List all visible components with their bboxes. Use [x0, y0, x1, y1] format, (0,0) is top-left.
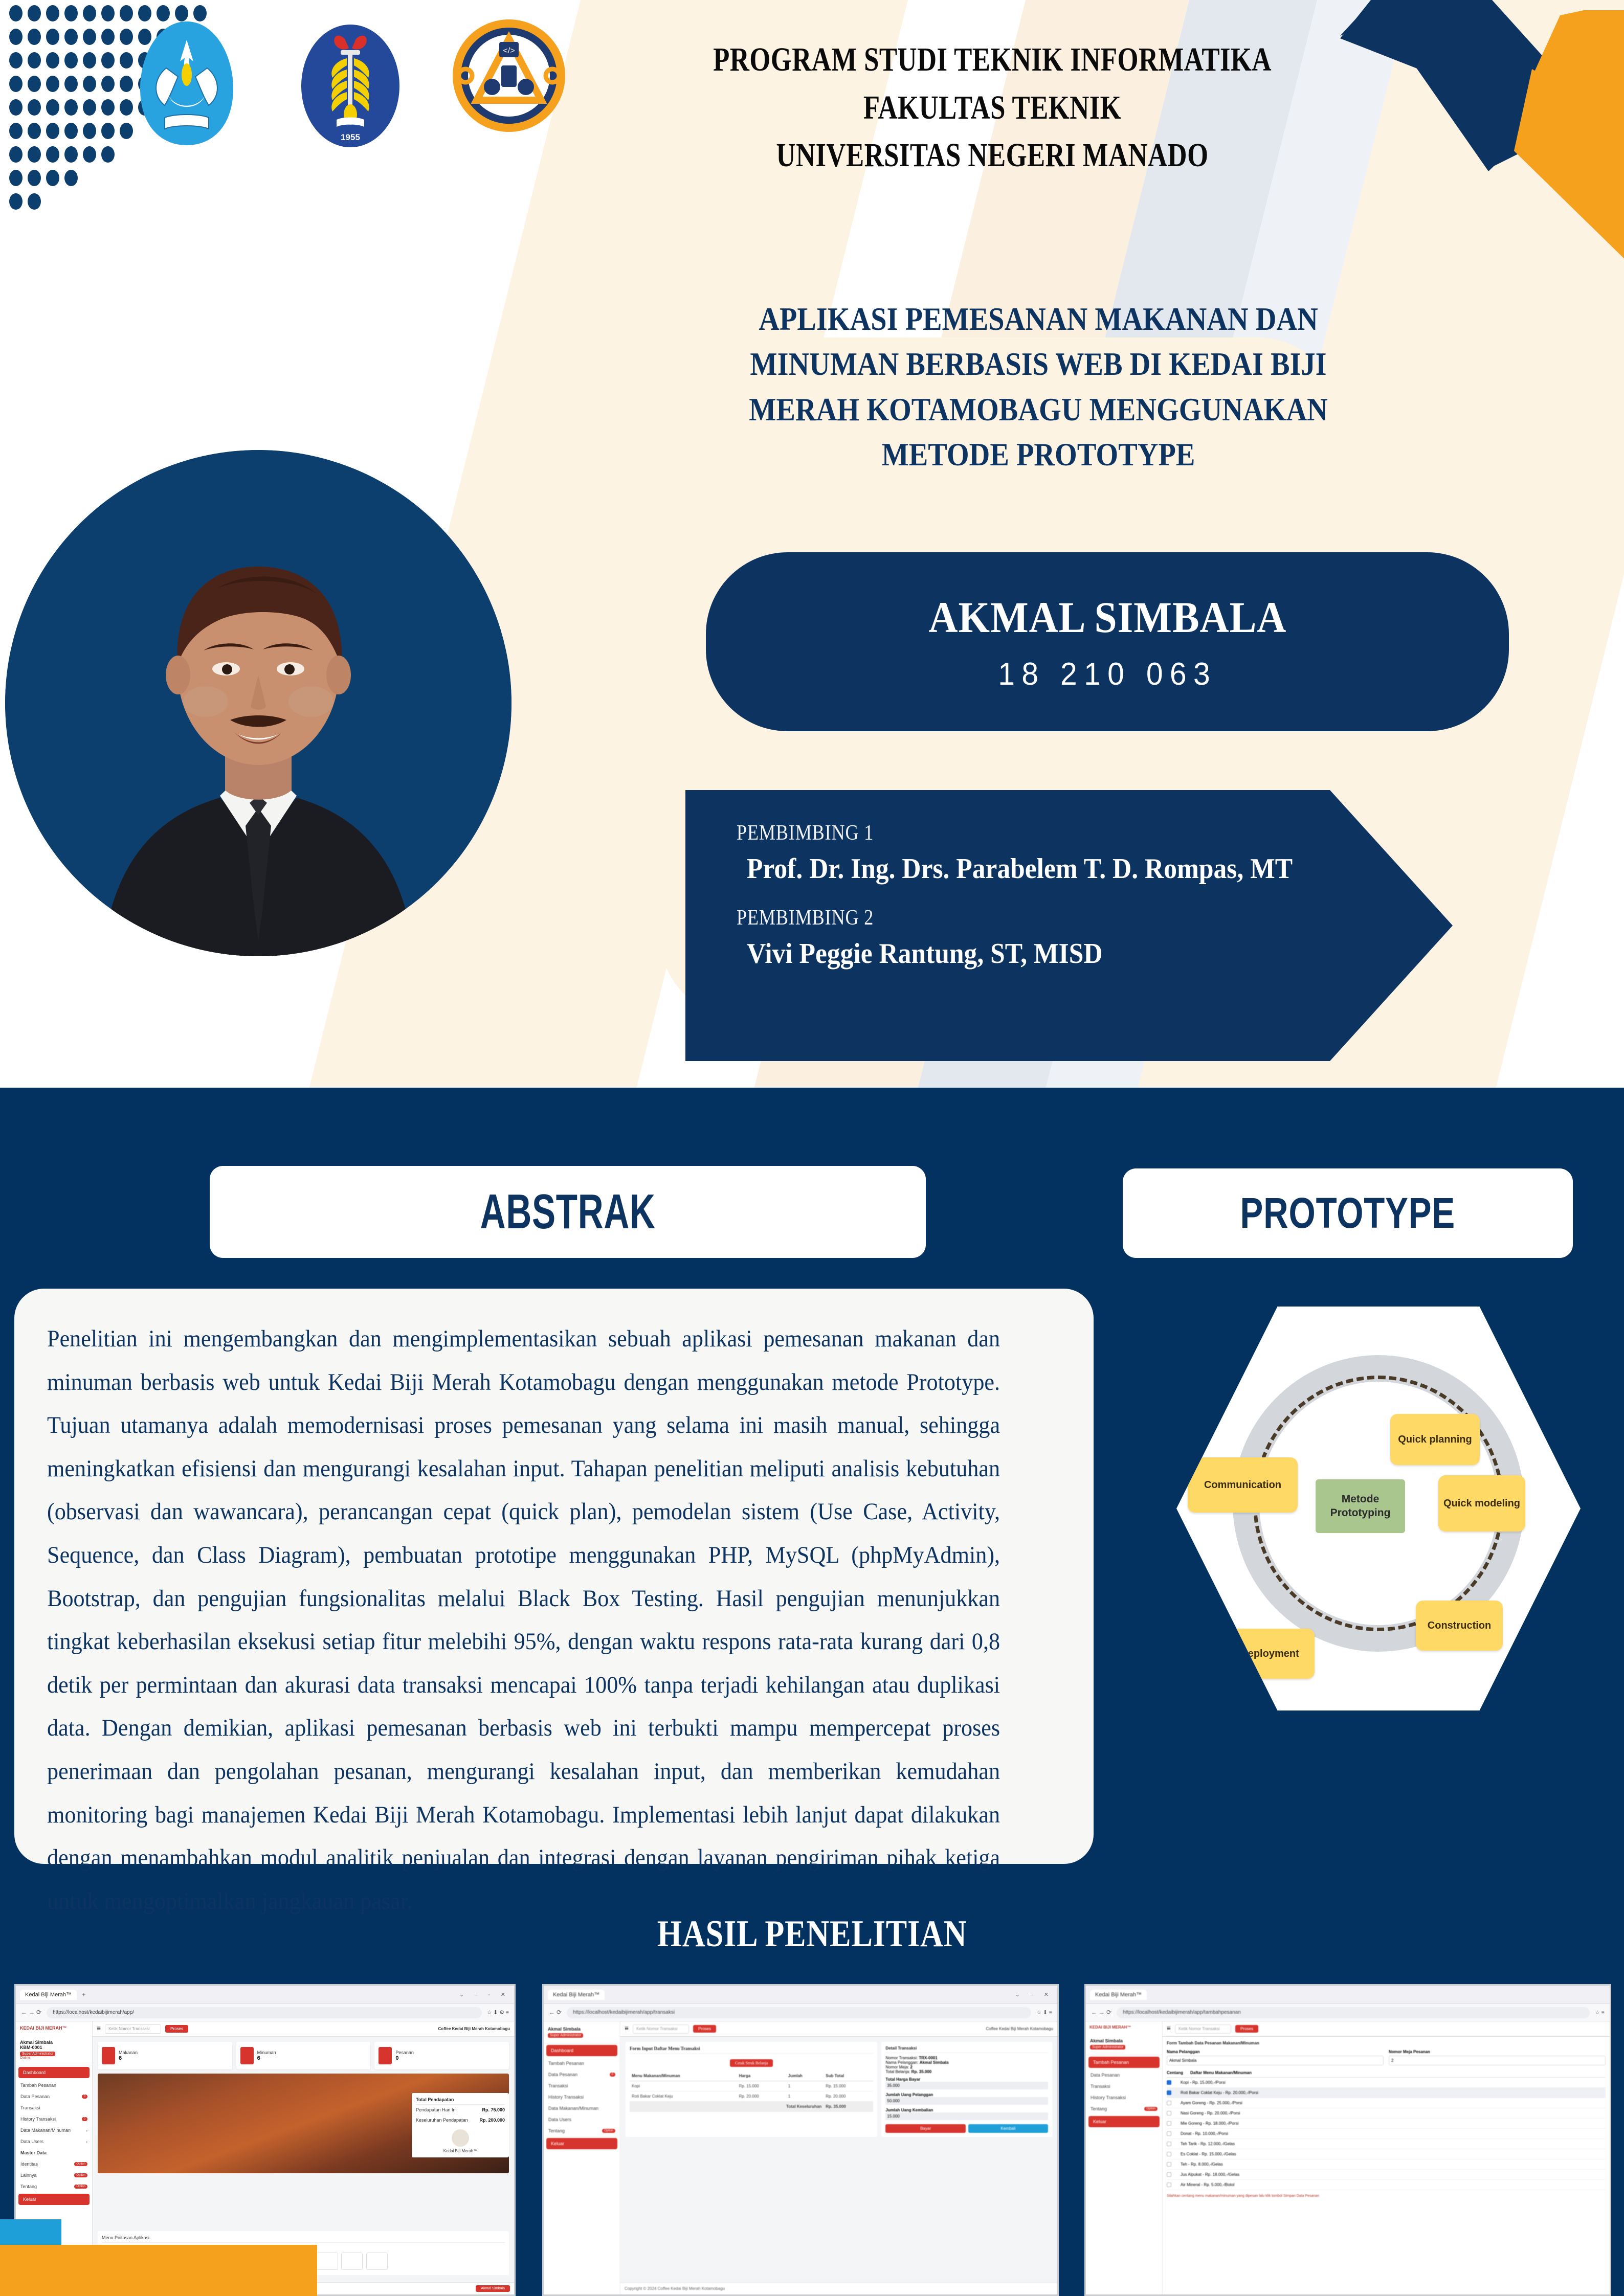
sidebar-user-name-2: Akmal Simbala [548, 2027, 616, 2032]
app-topnav-2: ☰ Ketik Nomor Transaksi Proses Coffee Ke… [620, 2021, 1057, 2037]
poster-title: APLIKASI PEMESANAN MAKANAN DAN MINUMAN B… [710, 297, 1367, 477]
list-item-label: Kopi - Rp. 15.000,-/Porsi [1181, 2080, 1226, 2085]
checkbox-icon[interactable] [1167, 2162, 1171, 2167]
sidebar-label-keluar-2: Keluar [551, 2141, 564, 2146]
prototype-stage-quick-planning: Quick planning [1390, 1414, 1480, 1465]
sidebar-badge-data-pesanan: 0 [82, 2095, 87, 2099]
td-total-value: Rp. 35.000 [824, 2102, 873, 2112]
sidebar-badge-identitas: Option [74, 2162, 87, 2166]
shortcut-title: Menu Pintasan Aplikasi [102, 2235, 505, 2243]
sidebar-item-identitas[interactable]: IdentitasOption [16, 2158, 92, 2170]
institution-line-2: FAKULTAS TEKNIK [673, 84, 1311, 132]
svg-text:</>: </> [503, 47, 515, 55]
list-item: Es Coklat - Rp. 15.000,-/Gelas [1167, 2149, 1606, 2159]
pesanan-field2-input[interactable]: 2 [1389, 2056, 1606, 2065]
sidebar-user-card-2: Akmal Simbala Super Administrator [544, 2021, 620, 2043]
cetak-struk-button[interactable]: Cetak Struk Belanja [730, 2059, 773, 2067]
browser-urlbar-2: ← ⟳ https://localhost/kedaibijimerah/app… [544, 2004, 1057, 2021]
sidebar-item-data-pesanan[interactable]: Data Pesanan0 [16, 2091, 92, 2102]
sidebar-user-name-3: Akmal Simbala [1090, 2038, 1158, 2043]
browser-toolbar-icons-1[interactable]: ☆ ⬇ ⚙ ≡ [487, 2009, 509, 2016]
sidebar-user-name: Akmal Simbala [20, 2040, 88, 2045]
checkbox-icon[interactable] [1167, 2182, 1171, 2187]
sidebar-item-history-3[interactable]: History Transaksi [1086, 2092, 1162, 2103]
browser-tab-2[interactable]: Kedai Biji Merah™ [548, 1990, 605, 2000]
new-tab-icon[interactable]: + [82, 1991, 85, 1999]
sidebar-user-id: KBM-0001 [20, 2045, 88, 2050]
browser-tabbar-3: Kedai Biji Merah™ [1086, 1986, 1610, 2004]
browser-tab-1[interactable]: Kedai Biji Merah™ [20, 1990, 77, 2000]
supervisor-1-name: Prof. Dr. Ing. Drs. Parabelem T. D. Romp… [747, 852, 1396, 885]
income-card: Total Pendapatan Pendapatan Hari IniRp. … [412, 2093, 509, 2157]
sidebar-item-data-users[interactable]: Data Users› [16, 2136, 92, 2147]
makanan-icon [102, 2047, 115, 2064]
sidebar-label-tambah-pesanan-2: Tambah Pesanan [548, 2061, 584, 2066]
list-item: Jus Alpukat - Rp. 18.000,-/Gelas [1167, 2170, 1606, 2180]
detail-title: Detail Transaksi [885, 2046, 1048, 2053]
sidebar-badge-2: 0 [610, 2073, 615, 2077]
sidebar-user-role-3: Super Administrator [1090, 2045, 1125, 2050]
proses-button-2[interactable]: Proses [693, 2025, 716, 2033]
td-menu-1: Kopi [630, 2081, 737, 2091]
sidebar-badge-tentang-2: Option [602, 2129, 615, 2133]
unima-logo: 1955 [292, 14, 409, 157]
detail-value-2: 2 [910, 2065, 912, 2069]
pesanan-field1-label: Nama Pelanggan [1167, 2050, 1384, 2054]
list-item-label: Roti Bakar Coklat Keju - Rp. 20.000,-/Po… [1181, 2090, 1258, 2095]
transaksi-search-input[interactable]: Ketik Nomor Transaksi [105, 2024, 161, 2034]
hamburger-icon-2[interactable]: ☰ [625, 2026, 629, 2032]
transaksi-form-panel: Form Input Daftar Menu Transaksi Cetak S… [626, 2042, 877, 2137]
list-item-label: Mie Goreng - Rp. 18.000,-/Porsi [1181, 2121, 1238, 2126]
student-name-badge: AKMAL SIMBALA 18 210 063 [706, 552, 1509, 731]
list-item-label: Air Mineral - Rp. 5.000,-/Botol [1181, 2182, 1234, 2187]
checkbox-icon[interactable] [1167, 2111, 1171, 2115]
sidebar-item-keluar-2[interactable]: Keluar [546, 2138, 617, 2149]
stat-value-makanan: 6 [119, 2055, 138, 2061]
pesanan-footer-note: Silahkan centang menu makanan/minuman ya… [1167, 2194, 1606, 2198]
abstrak-section-heading: ABSTRAK [210, 1166, 926, 1258]
pesanan-field2-label: Nomor Meja Pesanan [1389, 2050, 1606, 2054]
sidebar-item-data-users-2[interactable]: Data Users [544, 2114, 620, 2125]
checkbox-icon[interactable] [1167, 2172, 1171, 2177]
prototype-stage-construction: Construction [1416, 1601, 1503, 1651]
sidebar-label-dashboard: Dashboard [23, 2070, 46, 2075]
sidebar-item-dashboard[interactable]: Dashboard [18, 2067, 90, 2078]
list-item: Ayam Goreng - Rp. 25.000,-/Porsi [1167, 2098, 1606, 2108]
footer-copyright-2: Copyright © 2024 Coffee Kedai Biji Merah… [625, 2286, 725, 2291]
detail-label-2: Nomor Meja [885, 2065, 908, 2069]
abstrak-heading-text: ABSTRAK [480, 1184, 656, 1240]
account-label-1: Coffee Kedai Biji Merah Kotamobagu [438, 2027, 510, 2031]
minuman-icon [240, 2047, 254, 2064]
sidebar-label-data-users-2: Data Users [548, 2117, 571, 2122]
app-body-2: Akmal Simbala Super Administrator Dashbo… [544, 2021, 1057, 2294]
student-nim: 18 210 063 [998, 656, 1217, 692]
income-value-today: Rp. 75.000 [482, 2107, 505, 2112]
browser-urlbar-3: ← → ⟳ https://localhost/kedaibijimerah/a… [1086, 2004, 1610, 2021]
sidebar-badge-tentang-3: Option [1144, 2107, 1158, 2111]
supervisor-2-label: PEMBIMBING 2 [737, 906, 1352, 930]
abstract-text: Penelitian ini mengembangkan dan mengimp… [47, 1317, 1000, 1923]
td-total-label: Total Keseluruhan [630, 2102, 824, 2112]
stat-cards-row: Makanan6 Minuman6 Pesanan0 [93, 2037, 514, 2069]
stat-card-pesanan[interactable]: Pesanan0 [374, 2042, 509, 2069]
url-field-3[interactable]: https://localhost/kedaibijimerah/app/tam… [1117, 2007, 1590, 2018]
sidebar-item-transaksi-2[interactable]: Transaksi [544, 2080, 620, 2091]
td-harga-1: Rp. 15.000 [737, 2081, 786, 2091]
checkbox-checked-icon[interactable] [1167, 2080, 1171, 2085]
browser-toolbar-icons-2[interactable]: ☆ ⬇ ≡ [1036, 2009, 1052, 2016]
screenshot-transaksi: Kedai Biji Merah™ ⌄ – ✕ ← ⟳ https://loca… [542, 1984, 1059, 2296]
sidebar-item-transaksi-3[interactable]: Transaksi [1086, 2081, 1162, 2092]
sidebar-item-data-pesanan-2[interactable]: Data Pesanan0 [544, 2069, 620, 2080]
sidebar-badge-tentang: Option [74, 2185, 87, 2189]
institution-line-1: PROGRAM STUDI TEKNIK INFORMATIKA [673, 36, 1311, 84]
sidebar-label-keluar: Keluar [23, 2197, 36, 2202]
window-controls-1[interactable]: ⌄ – ▫ ✕ [459, 1991, 510, 1998]
transaksi-table: Menu Makanan/Minuman Harga Jumlah Sub To… [630, 2071, 873, 2112]
institution-line-3: UNIVERSITAS NEGERI MANADO [673, 131, 1311, 179]
detail-label-1: Nama Pelanggan [885, 2060, 917, 2065]
th-jumlah: Jumlah [786, 2071, 824, 2081]
sidebar-label-keluar-3: Keluar [1093, 2119, 1106, 2124]
list-item: Nasi Goreng - Rp. 20.000,-/Porsi [1167, 2108, 1606, 2119]
detail-value-0: TRX-0001 [919, 2056, 937, 2060]
stat-label-makanan: Makanan [119, 2050, 138, 2055]
app-brand-1: KEDAI BIJI MERAH™ [16, 2021, 92, 2035]
table-row: Kopi Rp. 15.000 1 Rp. 15.000 [630, 2081, 873, 2091]
app-topnav-1: ☰ Ketik Nomor Transaksi Proses Coffee Ke… [93, 2021, 514, 2037]
browser-tab-3[interactable]: Kedai Biji Merah™ [1090, 1990, 1147, 2000]
sidebar-label-tambah-3: Tambah Pesanan [1093, 2060, 1129, 2065]
sidebar-item-history-transaksi[interactable]: History Transaksi0 [16, 2113, 92, 2125]
table-row: Roti Bakar Coklat Keju Rp. 20.000 1 Rp. … [630, 2091, 873, 2102]
sidebar-label-tentang: Tentang [20, 2184, 37, 2189]
sidebar-item-tentang-2[interactable]: TentangOption [544, 2125, 620, 2136]
proses-button[interactable]: Proses [165, 2025, 188, 2033]
list-item: Teh - Rp. 8.000,-/Gelas [1167, 2159, 1606, 2170]
stat-value-minuman: 6 [257, 2055, 276, 2061]
browser-urlbar-1: ← → ⟳ https://localhost/kedaibijimerah/a… [16, 2004, 514, 2021]
sidebar-label-history-2: History Transaksi [548, 2095, 584, 2100]
browser-tabbar-1: Kedai Biji Merah™ + ⌄ – ▫ ✕ [16, 1986, 514, 2004]
list-item-label: Nasi Goreng - Rp. 20.000,-/Porsi [1181, 2111, 1240, 2115]
app-body-3: KEDAI BIJI MERAH™ Akmal Simbala Super Ad… [1086, 2021, 1610, 2294]
income-label-today: Pendapatan Hari Ini [416, 2107, 457, 2112]
pesanan-icon [379, 2047, 392, 2064]
hamburger-icon-3[interactable]: ☰ [1167, 2026, 1171, 2032]
field-label-2: Jumlah Uang Kembalian [885, 2108, 1048, 2112]
list-item-label: Donat - Rp. 10.000,-/Porsi [1181, 2131, 1228, 2136]
detail-label-0: Nomor Transaksi [885, 2056, 916, 2060]
stat-card-makanan[interactable]: Makanan6 [98, 2042, 232, 2069]
stat-card-minuman[interactable]: Minuman6 [236, 2042, 371, 2069]
nav-icons-2[interactable]: ← ⟳ [549, 2009, 562, 2016]
sidebar-label-tambah-pesanan: Tambah Pesanan [20, 2083, 56, 2088]
sidebar-item-keluar[interactable]: Keluar [18, 2194, 90, 2205]
chevron-orange-decoration [1504, 10, 1624, 286]
td-jumlah-1: 1 [786, 2081, 824, 2091]
sidebar-label-dashboard-2: Dashboard [551, 2048, 573, 2053]
sidebar-item-tentang[interactable]: TentangOption [16, 2181, 92, 2192]
list-item-label: Jus Alpukat - Rp. 18.000,-/Gelas [1181, 2172, 1239, 2177]
sidebar-badge-history: 0 [82, 2117, 87, 2121]
sidebar-label-tentang-3: Tentang [1091, 2106, 1107, 2111]
hasil-penelitian-heading: HASIL PENELITIAN [0, 1912, 1624, 1956]
sidebar-label-master-data: Master Data [20, 2150, 47, 2155]
list-item-label: Es Coklat - Rp. 15.000,-/Gelas [1181, 2152, 1236, 2156]
checkbox-icon[interactable] [1167, 2121, 1171, 2126]
th-harga: Harga [737, 2071, 786, 2081]
td-menu-2: Roti Bakar Coklat Keju [630, 2091, 737, 2102]
list-item-label: Teh Tarik - Rp. 12.000,-/Gelas [1181, 2142, 1235, 2146]
td-subtotal-1: Rp. 15.000 [824, 2081, 873, 2091]
app-main-3: ☰ Ketik Nomor Transaksi Proses Form Tamb… [1163, 2021, 1610, 2294]
hamburger-icon-1[interactable]: ☰ [97, 2026, 101, 2032]
list-item: Mie Goreng - Rp. 18.000,-/Porsi [1167, 2119, 1606, 2129]
student-name: AKMAL SIMBALA [928, 592, 1286, 643]
th-menu: Menu Makanan/Minuman [630, 2071, 737, 2081]
list-item: Air Mineral - Rp. 5.000,-/Botol [1167, 2180, 1606, 2190]
sidebar-item-tambah-pesanan-2[interactable]: Tambah Pesanan [544, 2058, 620, 2069]
menu-checklist: Kopi - Rp. 15.000,-/Porsi Roti Bakar Cok… [1167, 2078, 1606, 2190]
sidebar-item-data-makanan[interactable]: Data Makanan/Minuman› [16, 2125, 92, 2136]
sidebar-user-card-3: Akmal Simbala Super Administrator [1086, 2033, 1162, 2055]
url-field-2[interactable]: https://localhost/kedaibijimerah/app/tra… [567, 2007, 1031, 2018]
app-sidebar-2: Akmal Simbala Super Administrator Dashbo… [544, 2021, 620, 2294]
detail-value-3: Rp. 35.000 [911, 2069, 932, 2074]
pesanan-panel-title: Form Tambah Data Pesanan Makanan/Minuman [1167, 2041, 1606, 2045]
supervisor-1-label: PEMBIMBING 1 [737, 821, 1352, 845]
browser-toolbar-icons-3[interactable]: ☆ ≡ [1595, 2009, 1605, 2016]
transaksi-detail-panel: Detail Transaksi Nomor Transaksi: TRX-00… [881, 2042, 1052, 2137]
sidebar-label-data-pesanan-2: Data Pesanan [548, 2072, 577, 2077]
proses-button-3[interactable]: Proses [1235, 2025, 1258, 2033]
list-item-label: Ayam Goreng - Rp. 25.000,-/Porsi [1181, 2101, 1242, 2105]
sidebar-user-card: Akmal Simbala KBM-0001 Super Administrat… [16, 2035, 92, 2065]
app-brand-3: KEDAI BIJI MERAH™ [1086, 2021, 1162, 2033]
sidebar-user-status: Online [20, 2056, 88, 2060]
sidebar-item-keluar-3[interactable]: Keluar [1088, 2116, 1160, 2127]
sidebar-label-data-makanan-2: Data Makanan/Minuman [548, 2106, 598, 2111]
kembali-button[interactable]: Kembali [968, 2124, 1048, 2133]
stat-value-pesanan: 0 [395, 2055, 414, 2061]
income-label-total: Keseluruhan Pendapatan [416, 2118, 468, 2123]
window-controls-2[interactable]: ⌄ – ✕ [1015, 1991, 1053, 1998]
sidebar-label-tentang-2: Tentang [548, 2128, 565, 2133]
sidebar-label-transaksi-3: Transaksi [1091, 2084, 1110, 2089]
detail-label-3: Total Belanja [885, 2069, 909, 2074]
sidebar-label-data-makanan: Data Makanan/Minuman [20, 2128, 71, 2133]
table-header-row: Menu Makanan/Minuman Harga Jumlah Sub To… [630, 2071, 873, 2081]
browser-tabbar-2: Kedai Biji Merah™ ⌄ – ✕ [544, 1986, 1057, 2004]
sidebar-item-tambah-pesanan-3[interactable]: Tambah Pesanan [1088, 2057, 1160, 2068]
shop-logo-icon [452, 2129, 469, 2147]
transaksi-search-input-3[interactable]: Ketik Nomor Transaksi [1175, 2024, 1231, 2034]
shortcut-data-users[interactable] [366, 2253, 388, 2270]
supervisor-2-name: Vivi Peggie Rantung, ST, MISD [747, 937, 1396, 970]
app-topnav-3: ☰ Ketik Nomor Transaksi Proses [1163, 2021, 1610, 2037]
field-input-2[interactable]: 15.000 [885, 2112, 1048, 2120]
stat-label-minuman: Minuman [257, 2050, 276, 2055]
field-input-1[interactable]: 50.000 [885, 2097, 1048, 2105]
sidebar-item-data-makanan-2[interactable]: Data Makanan/Minuman [544, 2103, 620, 2114]
pesanan-field1-input[interactable]: Akmal Simbala [1167, 2056, 1384, 2065]
shortcut-tambah-user[interactable] [341, 2253, 363, 2270]
prototype-heading-text: PROTOTYPE [1240, 1188, 1455, 1238]
institution-header: PROGRAM STUDI TEKNIK INFORMATIKA FAKULTA… [673, 36, 1311, 179]
sidebar-user-role: Super Administrator [20, 2052, 55, 2056]
student-portrait-photo [5, 450, 511, 956]
sidebar-item-tambah-pesanan[interactable]: Tambah Pesanan [16, 2080, 92, 2091]
sidebar-item-dashboard-2[interactable]: Dashboard [546, 2045, 617, 2056]
checkbox-checked-icon[interactable] [1167, 2090, 1171, 2095]
field-label-0: Total Harga Bayar [885, 2077, 1048, 2082]
sidebar-item-data-pesanan-3[interactable]: Data Pesanan [1086, 2069, 1162, 2081]
poster-header-section: 1955 </> PROGRAM STUDI TEKNIK INFORMATIK… [0, 0, 1624, 1088]
sidebar-item-tentang-3[interactable]: TentangOption [1086, 2103, 1162, 2114]
checkbox-icon[interactable] [1167, 2101, 1171, 2105]
transaksi-search-input-2[interactable]: Ketik Nomor Transaksi [633, 2024, 689, 2034]
sidebar-label-history-transaksi: History Transaksi [20, 2117, 56, 2122]
td-subtotal-2: Rp. 20.000 [824, 2091, 873, 2102]
app-main-2: ☰ Ketik Nomor Transaksi Proses Coffee Ke… [620, 2021, 1057, 2294]
svg-text:1955: 1955 [341, 132, 360, 142]
bayar-button[interactable]: Bayar [885, 2124, 965, 2133]
nav-icons-3[interactable]: ← → ⟳ [1091, 2009, 1111, 2016]
list-item: Teh Tarik - Rp. 12.000,-/Gelas [1167, 2139, 1606, 2149]
abstract-card: Penelitian ini mengembangkan dan mengimp… [14, 1289, 1094, 1864]
prototype-stage-communication: Communication [1188, 1457, 1298, 1513]
list-header-menu: Daftar Menu Makanan/Minuman [1190, 2070, 1252, 2075]
list-item: Roti Bakar Coklat Keju - Rp. 20.000,-/Po… [1167, 2088, 1606, 2098]
prototype-section-heading: PROTOTYPE [1123, 1168, 1573, 1258]
back-forward-reload-icons[interactable]: ← → ⟳ [21, 2009, 41, 2016]
list-item: Kopi - Rp. 15.000,-/Porsi [1167, 2078, 1606, 2088]
shortcut-data-menu[interactable] [317, 2253, 338, 2270]
prodi-teknik-informatika-logo: </> [450, 10, 568, 141]
sidebar-badge-lainnya: Option [74, 2173, 87, 2177]
tut-wuri-handayani-logo [138, 19, 235, 147]
field-input-0[interactable]: 35.000 [885, 2082, 1048, 2089]
app-footer-2: Copyright © 2024 Coffee Kedai Biji Merah… [620, 2282, 1057, 2294]
td-harga-2: Rp. 20.000 [737, 2091, 786, 2102]
sidebar-item-lainnya[interactable]: LainnyaOption [16, 2170, 92, 2181]
sidebar-label-data-users: Data Users [20, 2139, 43, 2144]
orange-accent-decoration [0, 2245, 317, 2296]
transaksi-panel-title: Form Input Daftar Menu Transaksi [630, 2046, 873, 2054]
account-label-2: Coffee Kedai Biji Merah Kotamobagu [986, 2027, 1054, 2031]
sidebar-group-master-data: Master Data [16, 2147, 92, 2158]
url-field-1[interactable]: https://localhost/kedaibijimerah/app/ [47, 2007, 482, 2018]
sidebar-label-transaksi: Transaksi [20, 2105, 40, 2110]
app-sidebar-3: KEDAI BIJI MERAH™ Akmal Simbala Super Ad… [1086, 2021, 1163, 2294]
sidebar-item-transaksi[interactable]: Transaksi [16, 2102, 92, 2113]
shop-caption: Kedai Biji Merah™ [416, 2149, 505, 2153]
sidebar-label-data-pesanan: Data Pesanan [20, 2094, 50, 2099]
hasil-heading-text: HASIL PENELITIAN [657, 1912, 967, 1956]
screenshot-tambah-pesanan: Kedai Biji Merah™ ← → ⟳ https://localhos… [1084, 1984, 1611, 2296]
sidebar-user-role-2: Super Administrator [548, 2033, 583, 2038]
field-label-1: Jumlah Uang Pelanggan [885, 2092, 1048, 2097]
sidebar-label-lainnya: Lainnya [20, 2173, 37, 2178]
sidebar-label-identitas: Identitas [20, 2162, 38, 2167]
prototype-center-label: Metode Prototyping [1316, 1479, 1405, 1533]
stat-label-pesanan: Pesanan [395, 2050, 414, 2055]
sidebar-label-data-pesanan-3: Data Pesanan [1091, 2073, 1120, 2078]
footer-author-badge: Akmal Simbala [476, 2285, 510, 2292]
checkbox-icon[interactable] [1167, 2142, 1171, 2146]
table-total-row: Total Keseluruhan Rp. 35.000 [630, 2102, 873, 2112]
detail-value-1: Akmal Simbala [920, 2060, 949, 2065]
income-value-total: Rp. 200.000 [479, 2118, 505, 2123]
sidebar-label-transaksi-2: Transaksi [548, 2083, 568, 2088]
list-header-centang: Centang [1167, 2070, 1183, 2075]
sidebar-item-history-2[interactable]: History Transaksi [544, 2091, 620, 2103]
list-item: Donat - Rp. 10.000,-/Porsi [1167, 2129, 1606, 2139]
checkbox-icon[interactable] [1167, 2152, 1171, 2156]
th-subtotal: Sub Total [824, 2071, 873, 2081]
income-title: Total Pendapatan [416, 2097, 505, 2105]
sidebar-label-history-3: History Transaksi [1091, 2095, 1126, 2100]
list-item-label: Teh - Rp. 8.000,-/Gelas [1181, 2162, 1223, 2167]
prototype-stage-quick-modeling: Quick modeling [1438, 1475, 1525, 1532]
checkbox-icon[interactable] [1167, 2131, 1171, 2136]
td-jumlah-2: 1 [786, 2091, 824, 2102]
supervisors-panel: PEMBIMBING 1 Prof. Dr. Ing. Drs. Parabel… [685, 790, 1453, 1061]
